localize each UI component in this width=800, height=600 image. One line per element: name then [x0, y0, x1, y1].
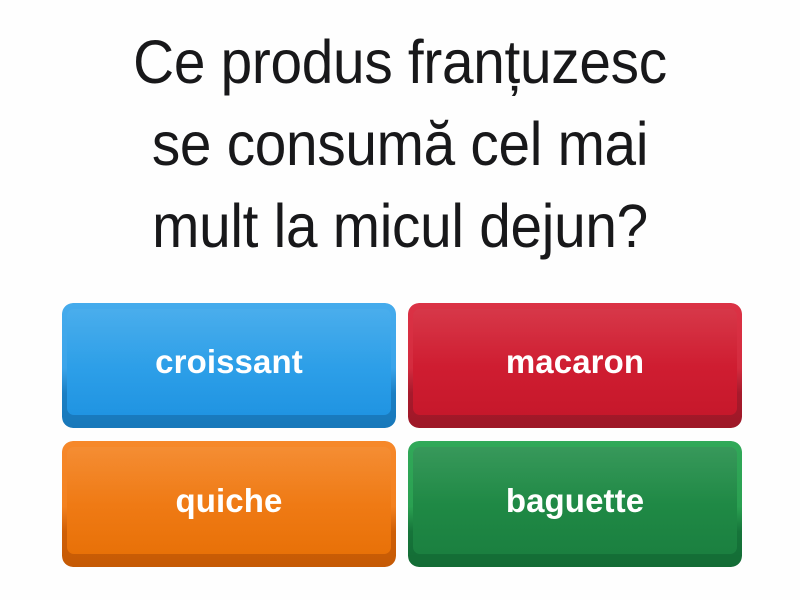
- answer-option-label: quiche: [62, 441, 396, 559]
- answer-option-quiche[interactable]: quiche: [62, 441, 396, 567]
- answer-options-grid: croissant macaron quiche baguette: [62, 303, 742, 567]
- answer-option-macaron[interactable]: macaron: [408, 303, 742, 428]
- answer-option-label: baguette: [408, 441, 742, 559]
- answer-option-label: macaron: [408, 303, 742, 420]
- quiz-slide: Ce produs franțuzesc se consumă cel mai …: [0, 0, 800, 600]
- answer-option-croissant[interactable]: croissant: [62, 303, 396, 428]
- answer-option-baguette[interactable]: baguette: [408, 441, 742, 567]
- question-text: Ce produs franțuzesc se consumă cel mai …: [56, 22, 744, 267]
- question-area: Ce produs franțuzesc se consumă cel mai …: [0, 0, 800, 290]
- answer-option-label: croissant: [62, 303, 396, 420]
